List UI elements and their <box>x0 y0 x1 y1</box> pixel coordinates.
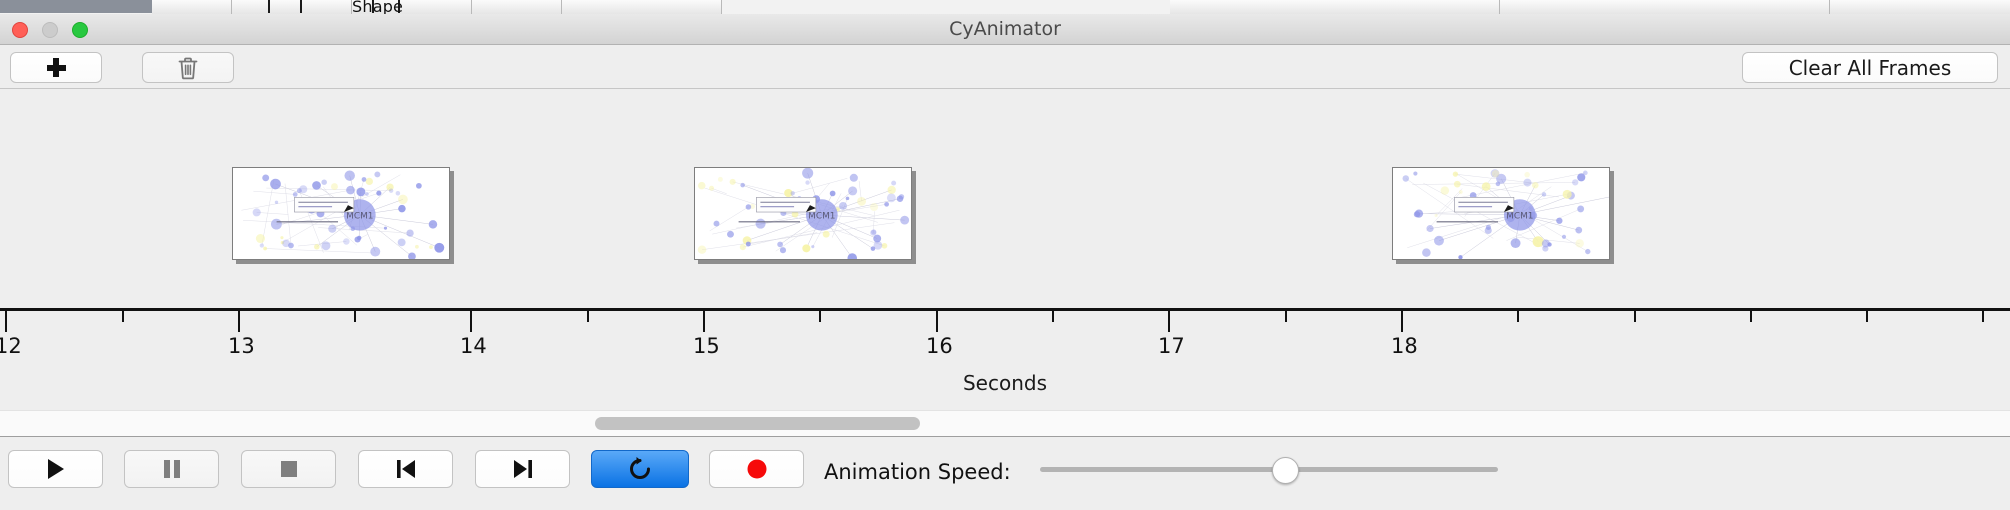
axis-tick <box>1168 311 1170 332</box>
stop-icon <box>279 457 299 481</box>
axis-tick-label: 15 <box>693 334 720 358</box>
animation-speed-thumb[interactable] <box>1272 457 1299 484</box>
trash-icon <box>177 56 199 80</box>
axis-tick <box>470 311 472 332</box>
axis-tick <box>1750 311 1752 322</box>
axis-title: Seconds <box>0 371 2010 395</box>
axis-tick <box>1517 311 1519 322</box>
background-window-segment <box>232 0 352 14</box>
axis-tick <box>1285 311 1287 322</box>
axis-tick <box>587 311 589 322</box>
axis-tick <box>703 311 705 332</box>
axis-tick <box>238 311 240 332</box>
window-title: CyAnimator <box>0 14 2010 45</box>
background-window-segment <box>1170 0 1500 14</box>
axis-tick <box>819 311 821 322</box>
axis-tick-label: 13 <box>228 334 255 358</box>
animation-speed-slider[interactable] <box>1040 467 1498 472</box>
background-window-segment <box>472 0 562 14</box>
axis-tick <box>1982 311 1984 322</box>
axis-tick-label: 18 <box>1391 334 1418 358</box>
stop-button[interactable] <box>241 450 336 488</box>
background-tick-icon <box>300 0 302 13</box>
skip-start-button[interactable] <box>358 450 453 488</box>
titlebar: CyAnimator <box>0 14 2010 45</box>
toolbar: Clear All Frames <box>0 45 2010 89</box>
background-window-segment <box>562 0 722 14</box>
axis-tick-label: 16 <box>926 334 953 358</box>
background-window-segment <box>1500 0 1830 14</box>
background-tick-icon <box>268 0 270 13</box>
add-frame-button[interactable] <box>10 52 102 83</box>
playback-controls: Animation Speed: <box>0 437 2010 510</box>
axis-tick <box>1866 311 1868 322</box>
timeline-panel[interactable]: MCM1 MCM1 MCM1 12131415161718 Seconds <box>0 89 2010 410</box>
play-button[interactable] <box>8 450 103 488</box>
cyanimator-window: Shape CyAnimator Clear All Frames <box>0 0 2010 510</box>
timeline-scrollbar[interactable] <box>0 410 2010 437</box>
plus-icon <box>47 58 66 77</box>
scrollbar-thumb[interactable] <box>595 417 920 430</box>
axis-tick-label: 17 <box>1158 334 1185 358</box>
skip-end-icon <box>512 457 534 481</box>
loop-icon <box>627 456 653 482</box>
loop-button[interactable] <box>591 450 689 488</box>
record-icon <box>745 457 769 481</box>
play-icon <box>45 457 67 481</box>
axis-tick <box>936 311 938 332</box>
axis-tick-label: 14 <box>460 334 487 358</box>
pause-button[interactable] <box>124 450 219 488</box>
axis-tick-label: 12 <box>0 334 22 358</box>
background-window-titlebar <box>0 0 152 13</box>
background-window-segment <box>152 0 232 14</box>
background-window-label: Shape <box>352 0 403 14</box>
axis-tick <box>354 311 356 322</box>
background-window-strip: Shape <box>0 0 2010 14</box>
axis-tick <box>1052 311 1054 322</box>
pause-icon <box>162 457 182 481</box>
skip-start-icon <box>395 457 417 481</box>
axis-tick <box>1634 311 1636 322</box>
svg-text:MCM1: MCM1 <box>346 211 373 221</box>
animation-speed-label: Animation Speed: <box>824 460 1011 484</box>
timeline-frame[interactable]: MCM1 <box>232 167 450 260</box>
background-window-segment <box>1830 0 2010 14</box>
timeline-axis <box>0 308 2010 311</box>
delete-frame-button[interactable] <box>142 52 234 83</box>
record-button[interactable] <box>709 450 804 488</box>
clear-all-frames-button[interactable]: Clear All Frames <box>1742 52 1998 83</box>
axis-tick <box>5 311 7 332</box>
skip-end-button[interactable] <box>475 450 570 488</box>
timeline-frame[interactable]: MCM1 <box>1392 167 1610 260</box>
axis-tick <box>1401 311 1403 332</box>
axis-tick <box>122 311 124 322</box>
svg-text:MCM1: MCM1 <box>1506 211 1533 221</box>
svg-text:MCM1: MCM1 <box>808 211 835 221</box>
clear-all-frames-label: Clear All Frames <box>1789 56 1952 80</box>
timeline-frame[interactable]: MCM1 <box>694 167 912 260</box>
